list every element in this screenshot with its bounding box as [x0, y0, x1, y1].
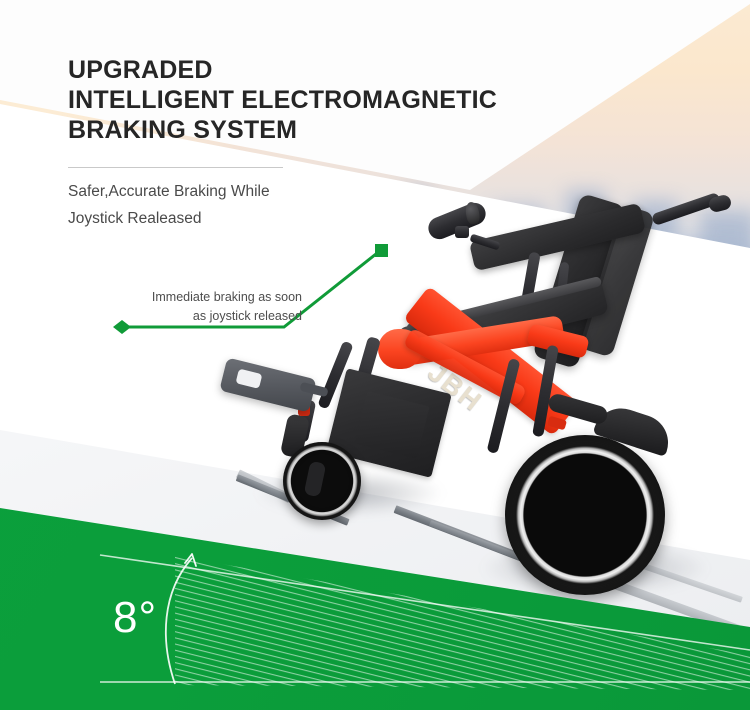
incline-hatched-wedge: [175, 556, 750, 690]
incline-angle-label: 8°: [113, 593, 157, 643]
product-poster: UPGRADED INTELLIGENT ELECTROMAGNETIC BRA…: [0, 0, 750, 710]
